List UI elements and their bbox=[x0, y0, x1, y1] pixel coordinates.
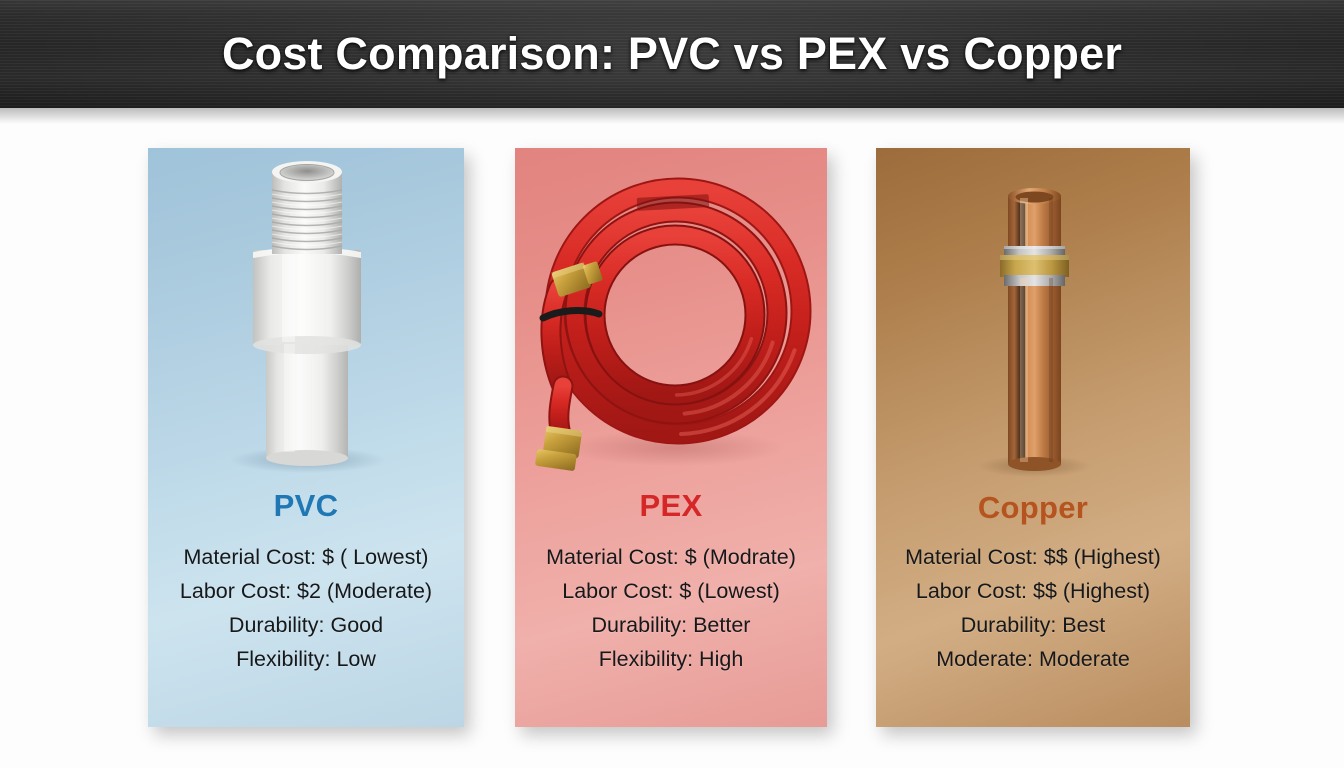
spec-labor-cost: Labor Cost: $2 (Moderate) bbox=[148, 574, 464, 608]
spec-durability: Durability: Better bbox=[515, 608, 827, 642]
pex-coil-icon bbox=[515, 148, 827, 478]
spec-material-cost: Material Cost: $ ( Lowest) bbox=[148, 540, 464, 574]
spec-durability: Durability: Best bbox=[876, 608, 1190, 642]
spec-list-copper: Material Cost: $$ (Highest) Labor Cost: … bbox=[876, 540, 1190, 676]
pex-product-image bbox=[515, 148, 827, 478]
comparison-card-copper[interactable]: Copper Material Cost: $$ (Highest) Labor… bbox=[876, 148, 1190, 727]
spec-labor-cost: Labor Cost: $$ (Highest) bbox=[876, 574, 1190, 608]
spec-list-pvc: Material Cost: $ ( Lowest) Labor Cost: $… bbox=[148, 540, 464, 676]
comparison-card-pvc[interactable]: PVC Material Cost: $ ( Lowest) Labor Cos… bbox=[148, 148, 464, 727]
copper-pipe-icon bbox=[876, 148, 1190, 478]
page-title: Cost Comparison: PVC vs PEX vs Copper bbox=[0, 0, 1344, 108]
spec-material-cost: Material Cost: $$ (Highest) bbox=[876, 540, 1190, 574]
card-heading-pex: PEX bbox=[515, 488, 827, 524]
spec-flexibility: Flexibility: Low bbox=[148, 642, 464, 676]
spec-labor-cost: Labor Cost: $ (Lowest) bbox=[515, 574, 827, 608]
spec-durability: Durability: Good bbox=[148, 608, 464, 642]
brass-fitting-lower bbox=[535, 425, 582, 471]
header-drop-shadow bbox=[0, 108, 1344, 124]
copper-product-image bbox=[876, 148, 1190, 478]
infographic-canvas: Cost Comparison: PVC vs PEX vs Copper bbox=[0, 0, 1344, 768]
spec-material-cost: Material Cost: $ (Modrate) bbox=[515, 540, 827, 574]
pvc-fitting-icon bbox=[148, 148, 464, 478]
card-heading-copper: Copper bbox=[876, 490, 1190, 526]
comparison-card-pex[interactable]: PEX Material Cost: $ (Modrate) Labor Cos… bbox=[515, 148, 827, 727]
pvc-product-image bbox=[148, 148, 464, 478]
spec-flexibility: Flexibility: High bbox=[515, 642, 827, 676]
card-heading-pvc: PVC bbox=[148, 488, 464, 524]
spec-list-pex: Material Cost: $ (Modrate) Labor Cost: $… bbox=[515, 540, 827, 676]
spec-flexibility: Moderate: Moderate bbox=[876, 642, 1190, 676]
